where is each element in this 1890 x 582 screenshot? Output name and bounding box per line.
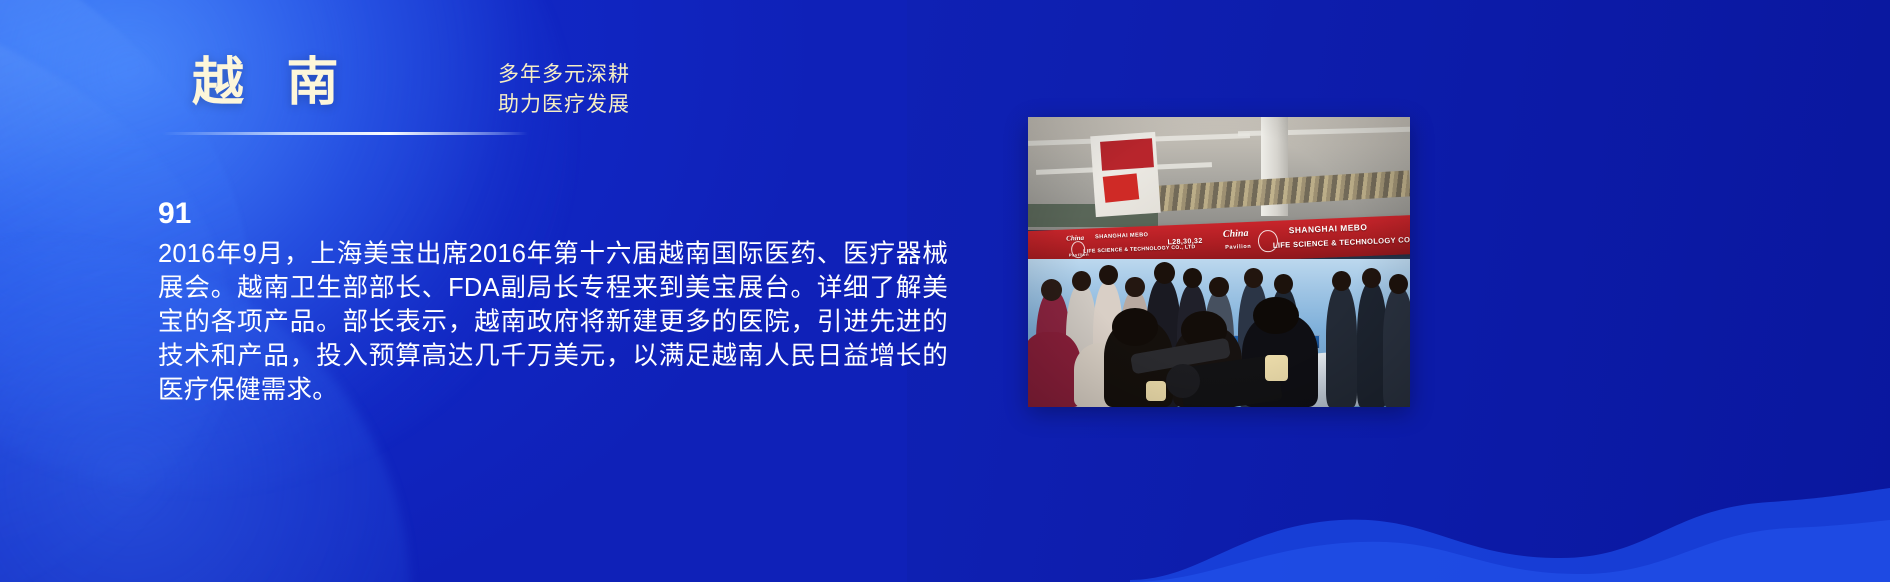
title-underline-rule	[162, 132, 528, 135]
item-number: 91	[158, 196, 948, 232]
photo-vignette	[1028, 117, 1410, 407]
body-block: 91 2016年9月，上海美宝出席2016年第十六届越南国际医药、医疗器械展会。…	[158, 196, 948, 408]
body-paragraph: 2016年9月，上海美宝出席2016年第十六届越南国际医药、医疗器械展会。越南卫…	[158, 238, 948, 408]
photo-content: China Pavilion SHANGHAI MEBO LIFE SCIENC…	[1028, 117, 1410, 407]
title-block: 越 南	[192, 56, 522, 111]
subtitle: 多年多元深耕 助力医疗发展	[498, 60, 630, 120]
exhibition-booth-photo: China Pavilion SHANGHAI MEBO LIFE SCIENC…	[1028, 117, 1410, 407]
page-title: 越 南	[192, 56, 522, 111]
background-wave-bottom-right	[1130, 462, 1890, 582]
slide-root: 越 南 多年多元深耕 助力医疗发展 91 2016年9月，上海美宝出席2016年…	[0, 0, 1890, 582]
